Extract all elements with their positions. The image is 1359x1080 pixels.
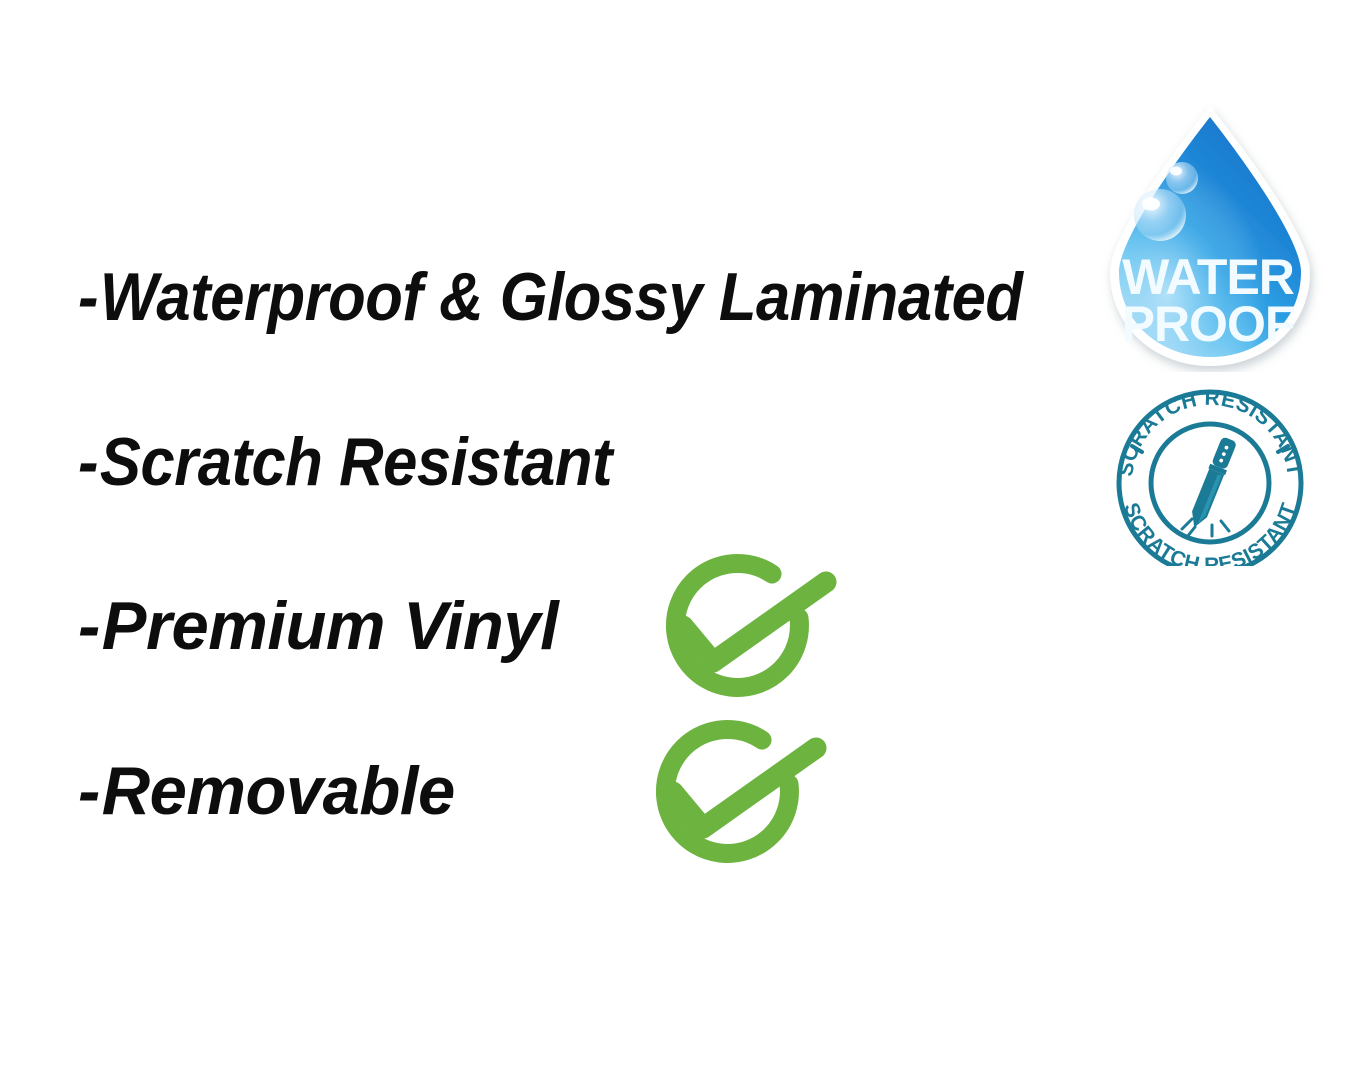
stamp-bottom-arc-text: SCRATCH RESISTANT (1119, 500, 1301, 566)
stamp-top-arc-text: SCRATCH RESISTANT (1114, 387, 1306, 478)
feature-item-removable: -Removable (78, 757, 455, 825)
feature-item-waterproof: -Waterproof & Glossy Laminated (78, 263, 1023, 331)
feature-label: Removable (102, 753, 455, 829)
impact-lines-icon (1182, 519, 1229, 537)
feature-bullet-dash: - (78, 263, 98, 331)
knife-icon (1186, 436, 1238, 531)
slide-canvas: -Waterproof & Glossy Laminated -Scratch … (0, 0, 1359, 1080)
water-bubble-icon (1134, 189, 1186, 241)
scratch-resistant-badge: SCRATCH RESISTANT SCRATCH RESISTANT (1108, 384, 1312, 566)
feature-bullet-dash: - (78, 428, 98, 496)
feature-label: Waterproof & Glossy Laminated (100, 259, 1023, 335)
feature-label: Premium Vinyl (102, 588, 558, 664)
check-circle-icon-1 (636, 552, 842, 712)
feature-item-premium-vinyl: -Premium Vinyl (78, 592, 558, 660)
waterproof-line2: PROOF (1122, 296, 1295, 352)
waterproof-badge: WATER PROOF (1098, 100, 1322, 372)
feature-bullet-dash: - (78, 592, 100, 660)
water-bubble-icon (1166, 162, 1198, 194)
feature-label: Scratch Resistant (100, 424, 612, 500)
feature-item-scratch-resistant: -Scratch Resistant (78, 428, 612, 496)
check-circle-icon-2 (626, 718, 832, 878)
stamp-divider-dashes (1132, 446, 1288, 452)
feature-list: -Waterproof & Glossy Laminated -Scratch … (0, 0, 1100, 1080)
feature-bullet-dash: - (78, 757, 100, 825)
